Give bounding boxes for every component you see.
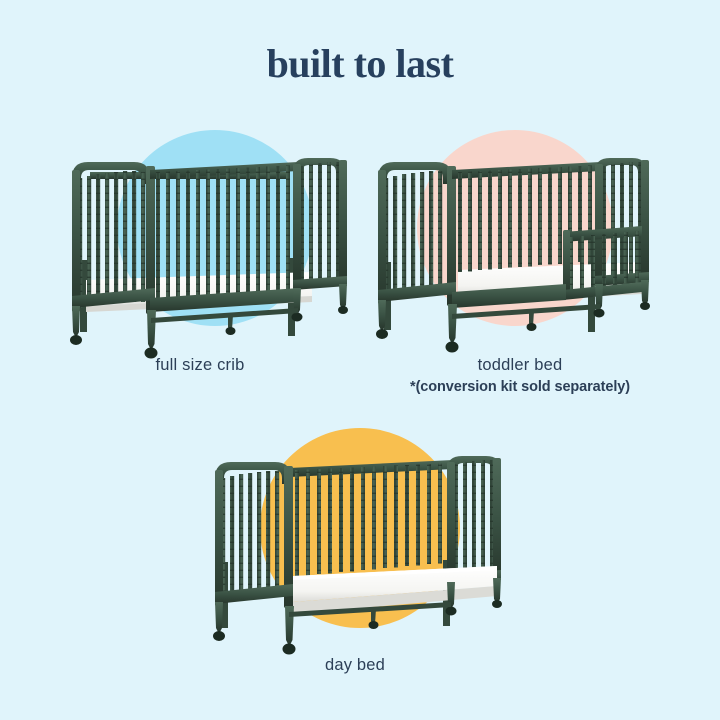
footboard-right xyxy=(447,456,501,584)
panel-caption: toddler bed *(conversion kit sold separa… xyxy=(370,355,670,396)
crib-illustration-toddler-bed xyxy=(370,110,670,360)
panel-caption: day bed xyxy=(185,655,525,676)
panel-label: day bed xyxy=(325,656,385,674)
product-panel-full-size-crib: full size crib xyxy=(50,110,350,410)
product-panel-day-bed: day bed xyxy=(185,410,525,710)
page-title: built to last xyxy=(0,44,720,84)
panel-caption: full size crib xyxy=(50,355,350,376)
footboard-right xyxy=(293,158,347,290)
panel-label: full size crib xyxy=(156,356,245,374)
panel-label: toddler bed xyxy=(478,356,563,374)
crib-illustration-day-bed xyxy=(185,410,525,660)
product-panel-toddler-bed: toddler bed *(conversion kit sold separa… xyxy=(370,110,670,410)
panel-note: *(conversion kit sold separately) xyxy=(370,378,670,396)
crib-illustration-full-size-crib xyxy=(50,110,350,360)
infographic-page: built to last xyxy=(0,0,720,720)
